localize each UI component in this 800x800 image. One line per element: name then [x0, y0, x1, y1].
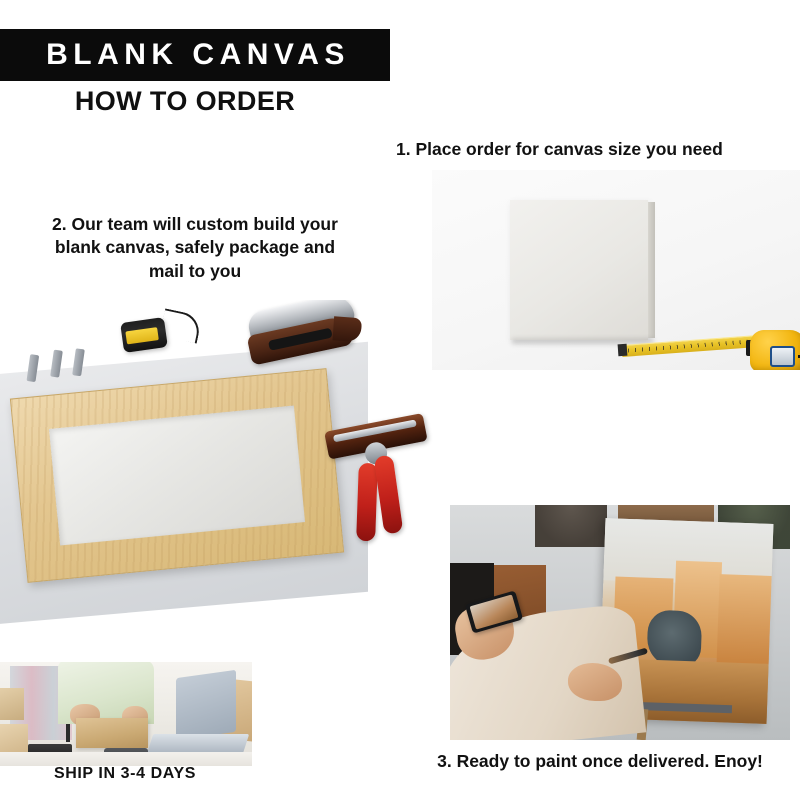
page-title: BLANK CANVAS [40, 40, 350, 70]
cardboard-parcel-box [76, 718, 148, 748]
canvas-stretching-pliers-icon [325, 419, 439, 571]
laptop-keyboard-base [147, 734, 249, 754]
page-subtitle: HOW TO ORDER [0, 86, 370, 117]
step-1-caption: 1. Place order for canvas size you need [396, 138, 788, 161]
canvas-drop-shadow [512, 338, 654, 344]
staple-gun-jaw [332, 316, 362, 342]
painting-dark-foliage [646, 610, 702, 668]
packing-box-shipping-photo [0, 662, 252, 766]
painting-building-shape [716, 574, 771, 668]
artist-hand-holding-brush [568, 663, 622, 701]
laptop-screen [176, 670, 236, 740]
canvas-wedge [50, 350, 63, 378]
canvas-wedge [72, 348, 85, 376]
blank-canvas-side-edge [648, 202, 655, 338]
title-banner: BLANK CANVAS [0, 29, 390, 81]
pliers-red-grip [356, 463, 378, 542]
step-2-caption: 2. Our team will custom build your blank… [36, 213, 354, 283]
blank-canvas-with-tape-measure-photo [432, 170, 800, 370]
wall-decor-left [535, 505, 607, 547]
stretcher-frame-with-tools-photo [0, 300, 440, 650]
blank-canvas-front [510, 200, 648, 340]
wooden-stretcher-frame [10, 368, 344, 583]
tape-measure-hook [618, 344, 628, 357]
step-3-caption: 3. Ready to paint once delivered. Enoy! [410, 750, 790, 773]
stacked-carton [0, 688, 24, 720]
desk-surface [0, 752, 252, 766]
stretched-canvas-surface [49, 405, 305, 545]
shipping-caption: SHIP IN 3-4 DAYS [10, 765, 240, 783]
infographic-page: BLANK CANVAS HOW TO ORDER 1. Place order… [0, 0, 800, 800]
tape-measure-dial [770, 346, 795, 367]
pliers-red-grip [374, 455, 404, 535]
artist-painting-at-easel-photo [450, 505, 790, 740]
canvas-wedge [27, 354, 40, 382]
